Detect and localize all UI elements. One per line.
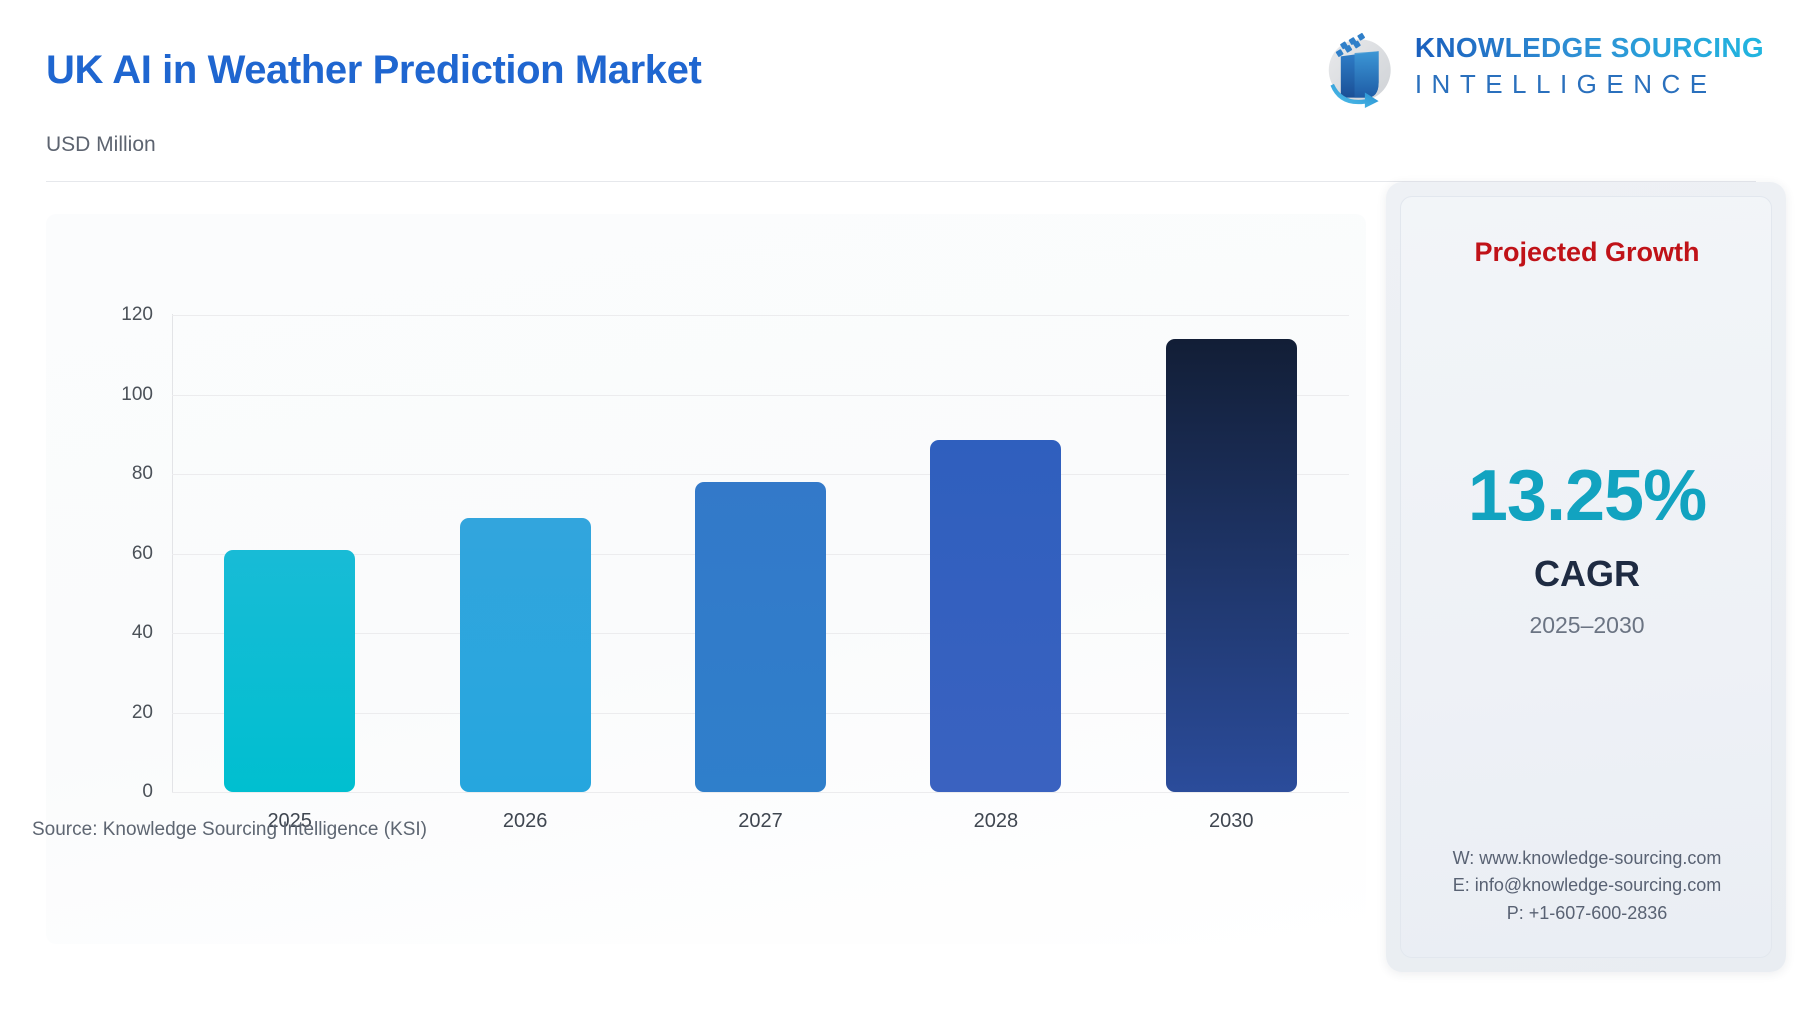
panel-heading: Projected Growth (1401, 237, 1773, 268)
page-body: 02040608010012020252026202720282030 Proj… (0, 182, 1800, 1012)
contact-block: W: www.knowledge-sourcing.com E: info@kn… (1401, 845, 1773, 927)
cagr-value: 13.25% (1401, 455, 1773, 537)
bar-2030[interactable] (1166, 339, 1297, 792)
projected-growth-panel-inner: Projected Growth 13.25% CAGR 2025–2030 W… (1400, 196, 1772, 958)
gridline (172, 315, 1349, 316)
contact-website: W: www.knowledge-sourcing.com (1401, 845, 1773, 872)
x-axis-tick-label-2026: 2026 (460, 810, 591, 833)
source-note: Source: Knowledge Sourcing Intelligence … (32, 819, 427, 841)
logo-text-secondary: INTELLIGENCE (1415, 71, 1764, 97)
page-subtitle-units: USD Million (46, 133, 156, 157)
bar-2027[interactable] (695, 482, 826, 792)
y-axis-tick-label: 60 (132, 543, 153, 565)
x-axis-tick-label-2028: 2028 (930, 810, 1061, 833)
logo-text-primary: KNOWLEDGE SOURCING (1415, 34, 1764, 62)
page-title: UK AI in Weather Prediction Market (46, 48, 701, 93)
x-axis-tick-label-2027: 2027 (695, 810, 826, 833)
cagr-period: 2025–2030 (1401, 612, 1773, 639)
chart-page: UK AI in Weather Prediction Market USD M… (0, 0, 1800, 1012)
y-axis-tick-label: 120 (121, 304, 153, 326)
y-axis-tick-label: 20 (132, 702, 153, 724)
gridline (172, 792, 1349, 793)
projected-growth-panel: Projected Growth 13.25% CAGR 2025–2030 W… (1386, 182, 1786, 972)
page-header: UK AI in Weather Prediction Market USD M… (0, 0, 1800, 182)
y-axis-tick-label: 0 (142, 781, 153, 803)
y-axis-tick-label: 40 (132, 622, 153, 644)
y-axis-tick-label: 100 (121, 384, 153, 406)
knowledge-sourcing-emblem-icon (1315, 22, 1401, 108)
bar-2026[interactable] (460, 518, 591, 792)
bar-2028[interactable] (930, 440, 1061, 792)
x-axis-tick-label-2030: 2030 (1166, 810, 1297, 833)
contact-email: E: info@knowledge-sourcing.com (1401, 872, 1773, 899)
cagr-label: CAGR (1401, 553, 1773, 595)
bar-2025[interactable] (224, 550, 355, 792)
contact-phone: P: +1-607-600-2836 (1401, 900, 1773, 927)
brand-logo: KNOWLEDGE SOURCING INTELLIGENCE (1315, 22, 1764, 108)
y-axis-tick-label: 80 (132, 463, 153, 485)
